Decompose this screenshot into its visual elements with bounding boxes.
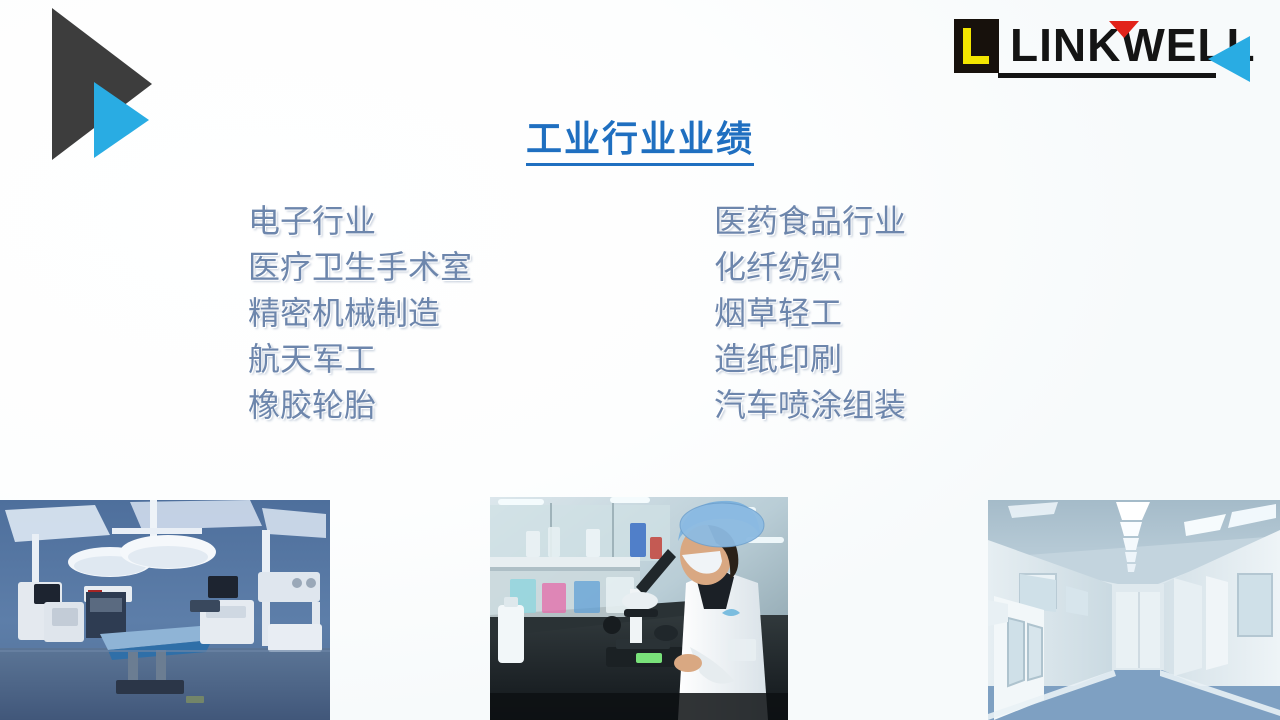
list-item: 医疗卫生手术室 <box>248 244 472 290</box>
photo-laboratory <box>490 497 788 720</box>
logo-underline-bar <box>998 73 1216 78</box>
blue-arrow-icon <box>1208 36 1250 82</box>
list-item: 汽车喷涂组装 <box>714 382 906 428</box>
company-logo: LINKWELL <box>954 12 1254 82</box>
laboratory-image <box>490 497 788 720</box>
list-item: 电子行业 <box>248 198 472 244</box>
slide-canvas: LINKWELL 工业行业业绩 电子行业 医疗卫生手术室 精密机械制造 航天军工… <box>0 0 1280 720</box>
industry-list-left-column: 电子行业 医疗卫生手术室 精密机械制造 航天军工 橡胶轮胎 <box>248 198 472 428</box>
list-item: 化纤纺织 <box>714 244 906 290</box>
list-item: 航天军工 <box>248 336 472 382</box>
page-title: 工业行业业绩 <box>0 118 1280 166</box>
logo-badge <box>954 19 999 73</box>
industry-list: 电子行业 医疗卫生手术室 精密机械制造 航天军工 橡胶轮胎 医药食品行业 化纤纺… <box>0 198 1280 438</box>
cleanroom-image <box>988 500 1280 720</box>
red-triangle-icon <box>1109 21 1139 38</box>
list-item: 造纸印刷 <box>714 336 906 382</box>
operating-room-image <box>0 500 330 720</box>
page-title-text: 工业行业业绩 <box>526 118 754 166</box>
industry-list-right-column: 医药食品行业 化纤纺织 烟草轻工 造纸印刷 汽车喷涂组装 <box>714 198 906 428</box>
list-item: 橡胶轮胎 <box>248 382 472 428</box>
list-item: 精密机械制造 <box>248 290 472 336</box>
list-item: 医药食品行业 <box>714 198 906 244</box>
photo-cleanroom <box>988 500 1280 720</box>
photo-operating-room <box>0 500 330 720</box>
logo-letter-l-icon <box>963 28 989 64</box>
list-item: 烟草轻工 <box>714 290 906 336</box>
